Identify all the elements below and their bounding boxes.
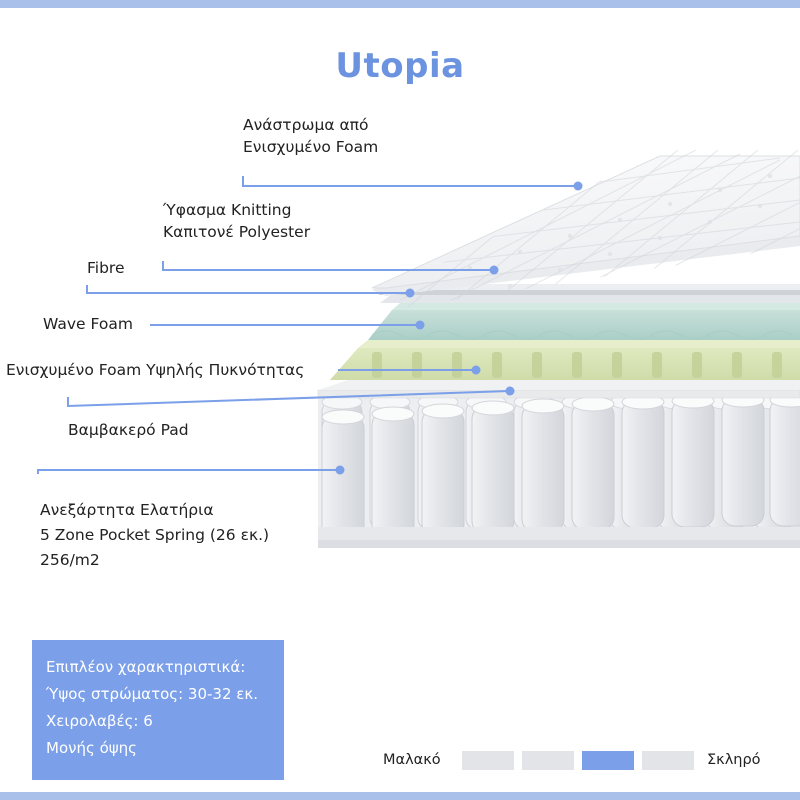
firmness-cell-3[interactable] bbox=[642, 751, 694, 770]
label-wave-foam: Wave Foam bbox=[43, 313, 133, 335]
firmness-cell-1[interactable] bbox=[522, 751, 574, 770]
pocket-spring-base bbox=[318, 392, 800, 548]
label-high-density-foam: Ενισχυμένο Foam Υψηλής Πυκνότητας bbox=[6, 359, 304, 381]
firmness-cell-2[interactable] bbox=[582, 751, 634, 770]
extra-features-line-2: Χειρολαβές: 6 bbox=[46, 708, 270, 735]
label-anastroma: Ανάστρωμα από Ενισχυμένο Foam bbox=[243, 114, 378, 158]
extra-features-box: Επιπλέον χαρακτηριστικά: Ύψος στρώματος:… bbox=[32, 640, 284, 780]
high-density-foam-layer bbox=[330, 340, 800, 380]
label-fibre: Fibre bbox=[87, 257, 125, 279]
extra-features-line-3: Μονής όψης bbox=[46, 735, 270, 762]
firmness-soft-label: Μαλακό bbox=[383, 752, 441, 768]
label-cotton-pad: Βαμβακερό Pad bbox=[68, 419, 189, 441]
diagram-stage: Utopia bbox=[0, 0, 800, 800]
wave-foam-layer bbox=[368, 303, 800, 340]
label-knitting: Ύφασμα Knitting Καπιτονέ Polyester bbox=[163, 199, 310, 243]
extra-features-heading: Επιπλέον χαρακτηριστικά: bbox=[46, 654, 270, 681]
firmness-hard-label: Σκληρό bbox=[707, 752, 761, 768]
extra-features-line-1: Ύψος στρώματος: 30-32 εκ. bbox=[46, 681, 270, 708]
firmness-cell-0[interactable] bbox=[462, 751, 514, 770]
label-pocket-spring: Ανεξάρτητα Ελατήρια 5 Zone Pocket Spring… bbox=[40, 498, 269, 573]
